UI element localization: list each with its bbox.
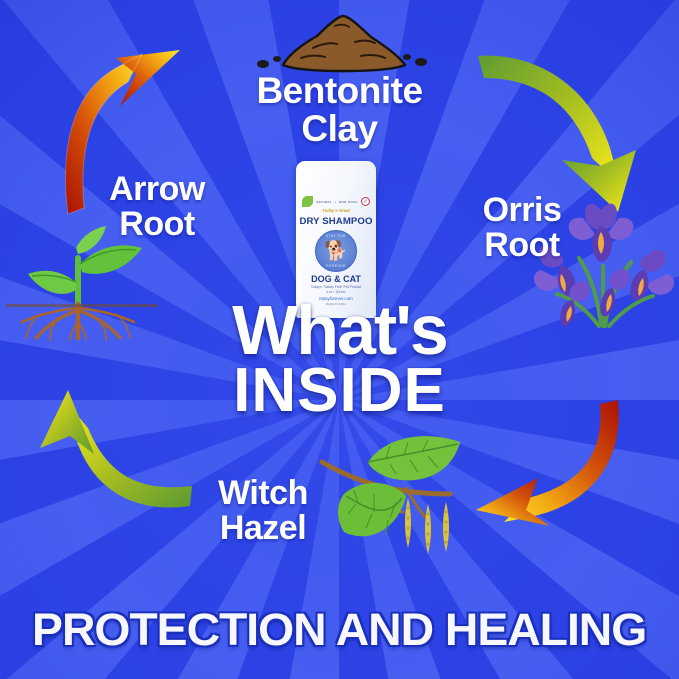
check-circle-icon: ✓ bbox=[361, 197, 370, 206]
bottle-for-pets: DOG & CAT bbox=[296, 274, 376, 284]
leaf-icon bbox=[302, 196, 313, 207]
title-line-2: INSIDE bbox=[0, 362, 679, 419]
title-line-1: What's bbox=[0, 298, 679, 362]
label-line-1: Witch bbox=[168, 476, 358, 511]
ingredient-label-arrow-root: Arrow Root bbox=[62, 172, 252, 243]
ingredient-label-witch-hazel: Witch Hazel bbox=[168, 476, 358, 547]
label-line-1: Arrow bbox=[62, 172, 252, 207]
bottle-badge-row: NATURAL • NON TOXIC ✓ bbox=[296, 196, 376, 207]
bottom-banner: PROTECTION AND HEALING bbox=[0, 580, 679, 679]
dog-silhouette-icon: 🐕 bbox=[324, 242, 348, 261]
badge-separator: • bbox=[335, 200, 336, 204]
clay-mound-icon bbox=[243, 12, 443, 74]
badge-natural: NATURAL bbox=[316, 200, 332, 204]
bottle-sub-tagline: Today's "Salary First" Pet Product bbox=[296, 285, 376, 289]
brand-seal: STAY FUR 🐕 FOREVER bbox=[315, 230, 357, 272]
label-line-1: Orris bbox=[432, 193, 612, 228]
label-line-1: Bentonite bbox=[0, 72, 679, 110]
bottle-product-name: DRY SHAMPOO bbox=[296, 216, 376, 227]
label-line-2: Hazel bbox=[168, 511, 358, 546]
arrow-bottom-right bbox=[466, 398, 661, 563]
banner-text: PROTECTION AND HEALING bbox=[32, 604, 646, 656]
page-title: What's INSIDE bbox=[0, 298, 679, 419]
ingredient-label-bentonite-clay: Bentonite Clay bbox=[0, 72, 679, 149]
seal-bottom-text: FOREVER bbox=[316, 264, 356, 268]
label-line-2: Root bbox=[62, 207, 252, 242]
badge-nontoxic: NON TOXIC bbox=[339, 200, 358, 204]
ingredient-label-orris-root: Orris Root bbox=[432, 193, 612, 264]
label-line-2: Root bbox=[432, 228, 612, 263]
poster-canvas: Bentonite Clay Arrow Root bbox=[0, 0, 679, 679]
bottle-script-tagline: Today's Great bbox=[296, 208, 376, 213]
seal-top-text: STAY FUR bbox=[316, 234, 356, 238]
label-line-2: Clay bbox=[0, 110, 679, 148]
